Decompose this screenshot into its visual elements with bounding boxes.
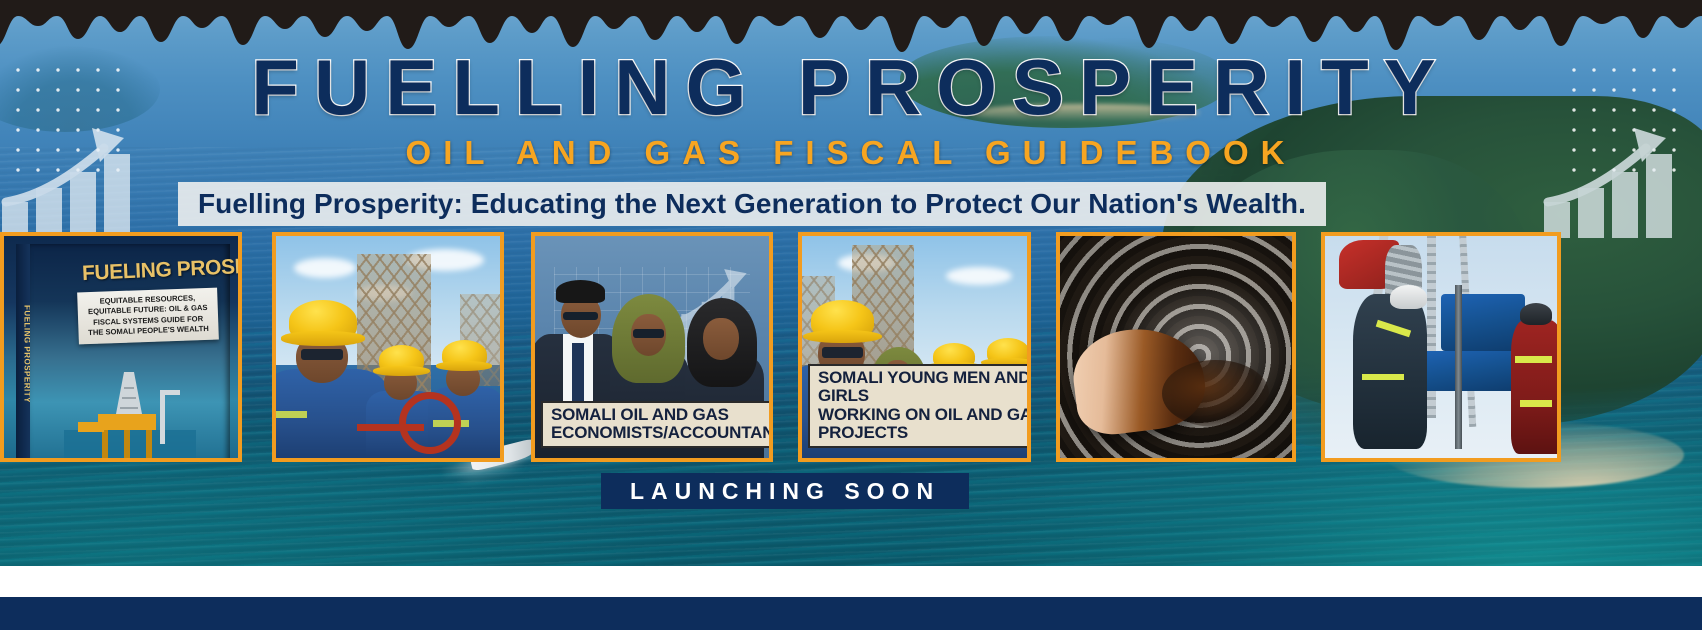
rig-workers-image bbox=[276, 236, 500, 458]
book-cover-subtitle: EQUITABLE RESOURCES, EQUITABLE FUTURE: O… bbox=[77, 288, 219, 345]
card-caption: SOMALI OIL AND GAS ECONOMISTS/ACCOUNTANT… bbox=[541, 401, 773, 448]
gallery-card-rig-workers[interactable] bbox=[272, 232, 504, 462]
card-caption: SOMALI YOUNG MEN AND GIRLS WORKING ON OI… bbox=[808, 364, 1031, 448]
glasses-icon bbox=[822, 347, 863, 358]
valve-wheel-icon bbox=[399, 392, 461, 454]
glasses-icon bbox=[563, 312, 598, 321]
glasses-icon bbox=[301, 349, 344, 360]
hard-hat-icon bbox=[1520, 303, 1552, 325]
offshore-rig-icon bbox=[64, 356, 196, 460]
promo-banner: FUELLING PROSPERITY OIL AND GAS FISCAL G… bbox=[0, 0, 1702, 566]
hard-hat-icon bbox=[811, 300, 874, 340]
headline-block: FUELLING PROSPERITY OIL AND GAS FISCAL G… bbox=[0, 48, 1702, 169]
gallery-card-economists[interactable]: SOMALI OIL AND GAS ECONOMISTS/ACCOUNTANT… bbox=[531, 232, 773, 462]
crude-oil-image bbox=[1060, 236, 1292, 458]
hard-hat-icon bbox=[379, 345, 424, 374]
hard-hat-icon bbox=[987, 338, 1030, 365]
tagline-bar: Fuelling Prosperity: Educating the Next … bbox=[178, 182, 1326, 226]
gallery-card-book-cover[interactable]: FUELING PROSPERITY FUELING PROSPERITY EQ… bbox=[0, 232, 242, 462]
white-spacer bbox=[0, 566, 1702, 597]
book-cover-title: FUELING PROSPERITY bbox=[82, 257, 225, 284]
hard-hat-icon bbox=[289, 300, 356, 342]
image-gallery: FUELING PROSPERITY FUELING PROSPERITY EQ… bbox=[0, 232, 1702, 464]
page-title: FUELLING PROSPERITY bbox=[0, 48, 1702, 126]
tagline-text: Fuelling Prosperity: Educating the Next … bbox=[198, 188, 1306, 220]
bottom-navy-bar bbox=[0, 597, 1702, 630]
gallery-card-drilling-crew[interactable] bbox=[1321, 232, 1561, 462]
gallery-card-crude-oil[interactable] bbox=[1056, 232, 1296, 462]
hard-hat-icon bbox=[442, 340, 487, 369]
page-subtitle: OIL AND GAS FISCAL GUIDEBOOK bbox=[0, 136, 1702, 169]
launching-soon-badge: LAUNCHING SOON bbox=[601, 473, 969, 509]
gallery-card-young-workers[interactable]: SOMALI YOUNG MEN AND GIRLS WORKING ON OI… bbox=[798, 232, 1031, 462]
drilling-crew-image bbox=[1325, 236, 1557, 458]
glasses-icon bbox=[633, 329, 663, 338]
hard-hat-icon bbox=[1390, 285, 1427, 309]
drilling-machine bbox=[1418, 351, 1520, 391]
hair-icon bbox=[556, 280, 605, 302]
drill-pipe bbox=[1455, 285, 1462, 449]
book-cover-image: FUELING PROSPERITY FUELING PROSPERITY EQ… bbox=[4, 236, 238, 458]
launching-soon-text: LAUNCHING SOON bbox=[630, 478, 940, 505]
